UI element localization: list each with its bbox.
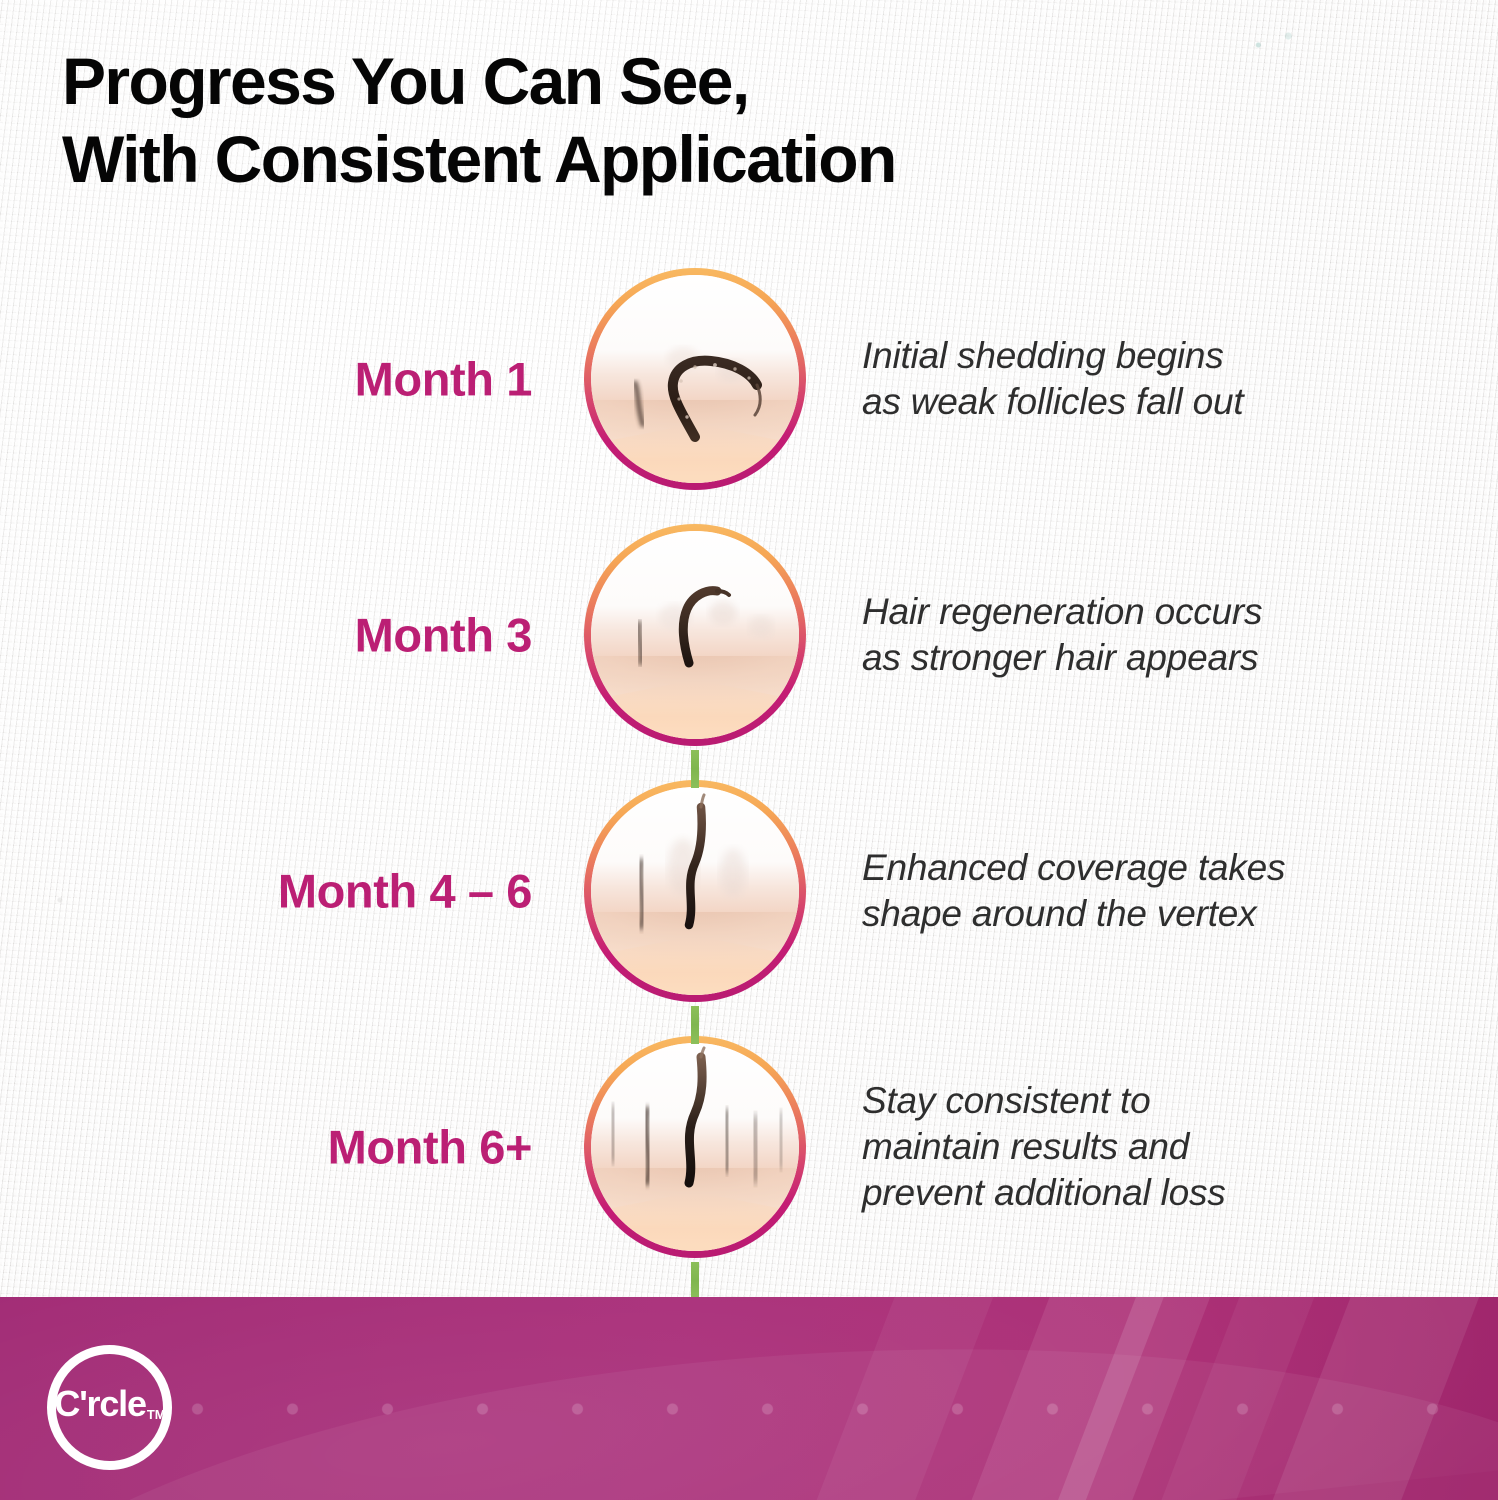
timeline-step-month-4-6: Month 4 – 6 bbox=[0, 780, 1498, 1002]
gradient-ring bbox=[584, 524, 806, 746]
brand-banner bbox=[0, 1297, 1498, 1500]
description-line-3: prevent additional loss bbox=[862, 1170, 1422, 1216]
timeline-step-description: Hair regeneration occurs as stronger hai… bbox=[862, 589, 1422, 681]
gradient-ring bbox=[584, 268, 806, 490]
scalp-photo-disc bbox=[591, 275, 799, 483]
hair-strands-icon bbox=[591, 275, 799, 483]
scalp-photo-disc bbox=[591, 787, 799, 995]
timeline-connector-1 bbox=[691, 750, 699, 788]
gradient-ring bbox=[584, 1036, 806, 1258]
timeline-step-month-6-plus: Month 6+ bbox=[0, 1036, 1498, 1258]
page-title-line-2: With Consistent Application bbox=[62, 120, 1362, 198]
description-line-2: as stronger hair appears bbox=[862, 635, 1422, 681]
description-line-1: Initial shedding begins bbox=[862, 333, 1422, 379]
timeline-step-image-month-4-6 bbox=[584, 780, 806, 1002]
timeline-step-description: Enhanced coverage takes shape around the… bbox=[862, 845, 1422, 937]
infographic-page: Progress You Can See, With Consistent Ap… bbox=[0, 0, 1498, 1500]
description-line-1: Hair regeneration occurs bbox=[862, 589, 1422, 635]
timeline-step-month-3: Month 3 bbox=[0, 524, 1498, 746]
timeline-step-image-month-3 bbox=[584, 524, 806, 746]
scalp-photo-disc bbox=[591, 1043, 799, 1251]
timeline-step-image-month-1 bbox=[584, 268, 806, 490]
gradient-ring bbox=[584, 780, 806, 1002]
timeline-step-description: Initial shedding begins as weak follicle… bbox=[862, 333, 1422, 425]
timeline-step-image-month-6-plus bbox=[584, 1036, 806, 1258]
hair-strands-icon bbox=[591, 787, 799, 995]
banner-light-sweep bbox=[0, 1297, 1498, 1500]
timeline-step-label: Month 3 bbox=[355, 608, 532, 663]
description-line-1: Stay consistent to bbox=[862, 1078, 1422, 1124]
timeline-step-label: Month 4 – 6 bbox=[278, 864, 532, 919]
description-line-2: maintain results and bbox=[862, 1124, 1422, 1170]
description-line-1: Enhanced coverage takes bbox=[862, 845, 1422, 891]
page-title: Progress You Can See, With Consistent Ap… bbox=[62, 42, 1362, 198]
brand-logo: C'rcleTM bbox=[47, 1345, 172, 1470]
timeline-step-label: Month 1 bbox=[355, 352, 532, 407]
logo-wordmark: C'rcleTM bbox=[47, 1386, 172, 1430]
logo-trademark: TM bbox=[147, 1407, 166, 1422]
scalp-photo-disc bbox=[591, 531, 799, 739]
page-title-line-1: Progress You Can See, bbox=[62, 42, 1362, 120]
timeline-step-month-1: Month 1 bbox=[0, 268, 1498, 490]
hair-strands-icon bbox=[591, 1043, 799, 1251]
timeline: Month 1 bbox=[0, 268, 1498, 1248]
timeline-step-label: Month 6+ bbox=[328, 1120, 532, 1175]
hair-strands-icon bbox=[591, 531, 799, 739]
timeline-connector-2 bbox=[691, 1006, 699, 1044]
logo-name: C'rcle bbox=[54, 1383, 145, 1424]
timeline-connector-3 bbox=[691, 1262, 699, 1300]
timeline-step-description: Stay consistent to maintain results and … bbox=[862, 1078, 1422, 1216]
description-line-2: as weak follicles fall out bbox=[862, 379, 1422, 425]
description-line-2: shape around the vertex bbox=[862, 891, 1422, 937]
